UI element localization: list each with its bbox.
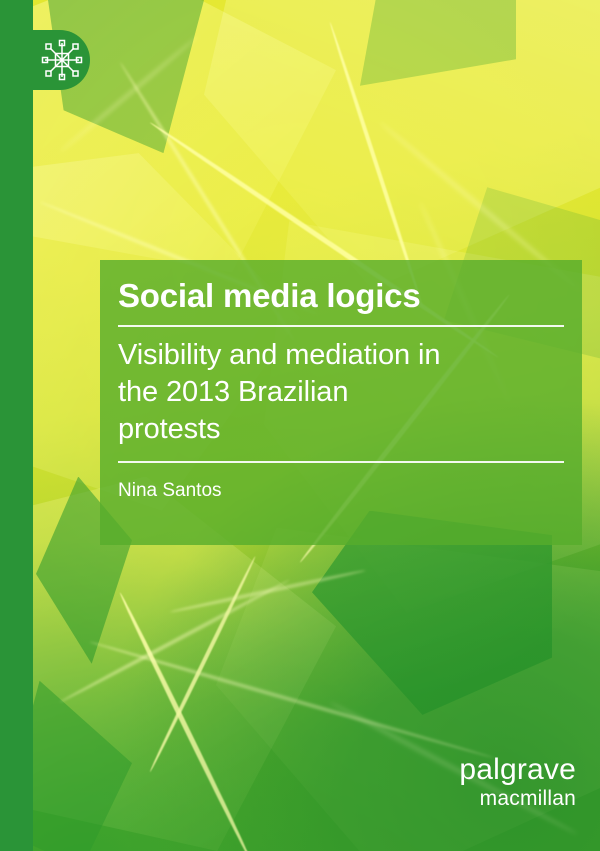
palgrave-spokes-icon — [38, 36, 86, 84]
publisher-name: palgrave — [459, 755, 576, 785]
subtitle-line: Visibility and mediation in — [118, 337, 564, 374]
title-panel: Social media logics Visibility and media… — [100, 260, 582, 545]
publisher-imprint: macmillan — [459, 787, 576, 811]
title-divider — [118, 325, 564, 327]
subtitle-line: the 2013 Brazilian — [118, 374, 564, 411]
subtitle-line: protests — [118, 411, 564, 448]
publisher-logo: palgrave macmillan — [459, 755, 576, 811]
book-cover: Social media logics Visibility and media… — [0, 0, 600, 851]
book-subtitle: Visibility and mediation in the 2013 Bra… — [118, 337, 564, 448]
book-title: Social media logics — [118, 276, 564, 316]
author-name: Nina Santos — [118, 479, 564, 503]
author-divider — [118, 461, 564, 463]
spine-stripe — [0, 0, 33, 851]
